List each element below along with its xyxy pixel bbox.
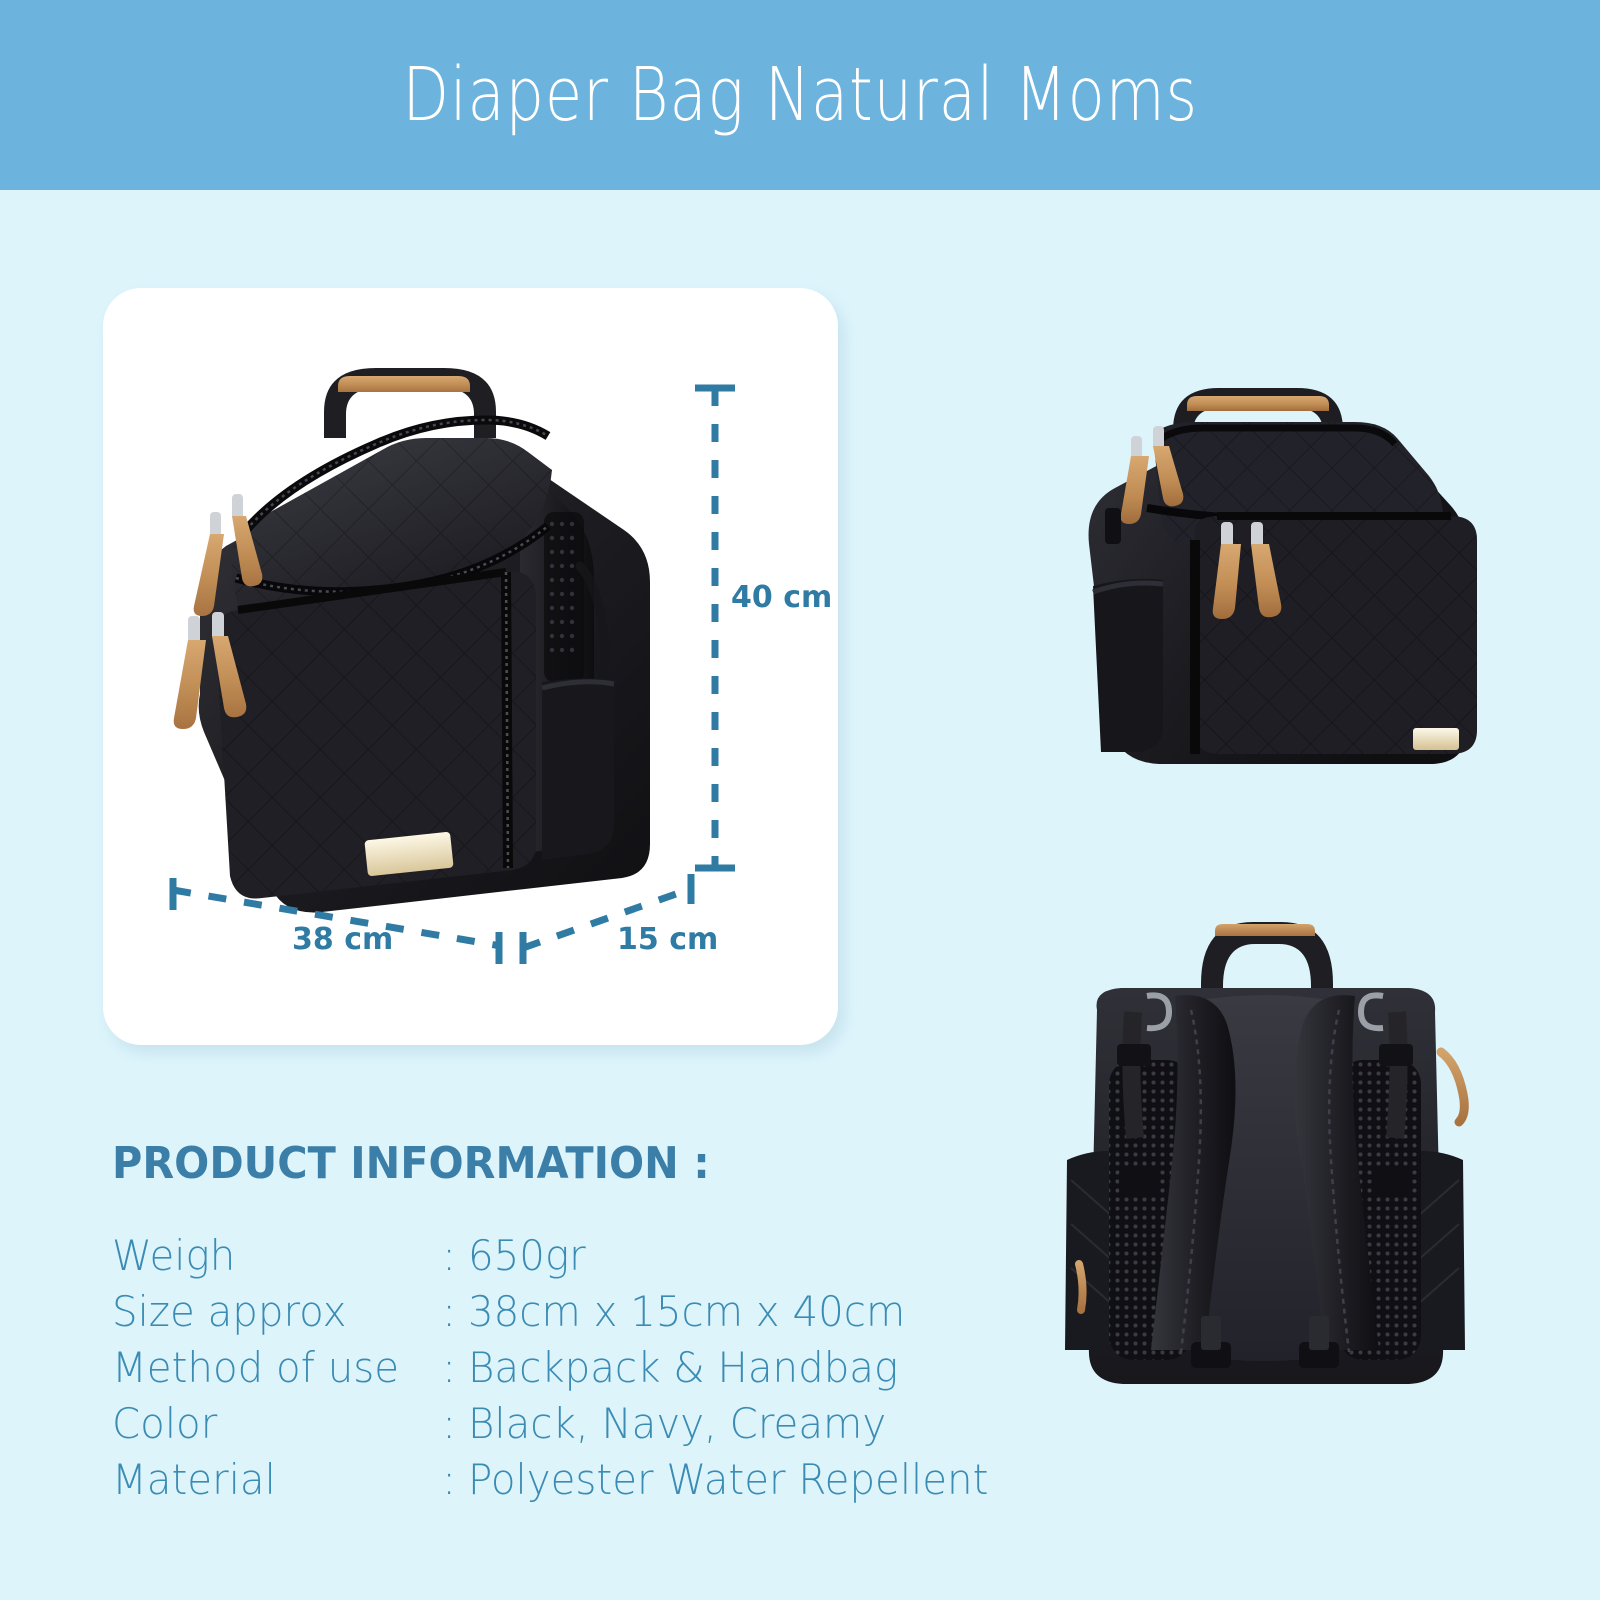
spec-label: Material xyxy=(112,1459,429,1515)
side-buckle xyxy=(1105,508,1121,544)
product-photo-front-view xyxy=(1035,340,1515,820)
spec-value: Polyester Water Repellent xyxy=(468,1459,988,1515)
spec-separator: : xyxy=(442,1459,468,1515)
spec-separator: : xyxy=(442,1291,468,1347)
side-slip-pocket xyxy=(1093,579,1163,752)
main-product-photo xyxy=(128,316,728,916)
spec-label: Weigh xyxy=(112,1235,429,1291)
dimension-label-depth: 15 cm xyxy=(617,922,718,957)
table-row: Method of use : Backpack & Handbag xyxy=(112,1347,1010,1403)
spec-separator: : xyxy=(442,1235,468,1291)
spec-value: 650gr xyxy=(468,1235,988,1291)
spec-value: Backpack & Handbag xyxy=(468,1347,988,1403)
product-information-section: PRODUCT INFORMATION : Weigh : 650gr Size… xyxy=(112,1138,1112,1515)
dimension-label-width: 38 cm xyxy=(292,922,393,957)
buckle-mid-right xyxy=(1373,1170,1411,1194)
page-title: Diaper Bag Natural Moms xyxy=(402,52,1198,138)
spec-value: 38cm x 15cm x 40cm xyxy=(468,1291,988,1347)
spec-label: Size approx xyxy=(112,1291,429,1347)
spec-label: Color xyxy=(112,1403,429,1459)
spec-label: Method of use xyxy=(112,1347,429,1403)
spec-separator: : xyxy=(442,1403,468,1459)
header-banner: Diaper Bag Natural Moms xyxy=(0,0,1600,190)
table-row: Material : Polyester Water Repellent xyxy=(112,1459,1010,1515)
product-spec-table: Weigh : 650gr Size approx : 38cm x 15cm … xyxy=(112,1235,1010,1515)
buckle-mid-left xyxy=(1119,1170,1157,1194)
zipper-pull-tan xyxy=(1441,1052,1464,1122)
spec-value: Black, Navy, Creamy xyxy=(468,1403,988,1459)
product-information-heading: PRODUCT INFORMATION : xyxy=(112,1138,1052,1189)
table-row: Weigh : 650gr xyxy=(112,1235,1010,1291)
table-row: Size approx : 38cm x 15cm x 40cm xyxy=(112,1291,1010,1347)
table-row: Color : Black, Navy, Creamy xyxy=(112,1403,1010,1459)
buckle-upper-left xyxy=(1117,1044,1151,1066)
buckle-upper-right xyxy=(1379,1044,1413,1066)
side-slip-pocket xyxy=(542,678,614,860)
spec-separator: : xyxy=(442,1347,468,1403)
logo-plate xyxy=(1413,728,1459,750)
dimension-label-height: 40 cm xyxy=(731,580,832,615)
